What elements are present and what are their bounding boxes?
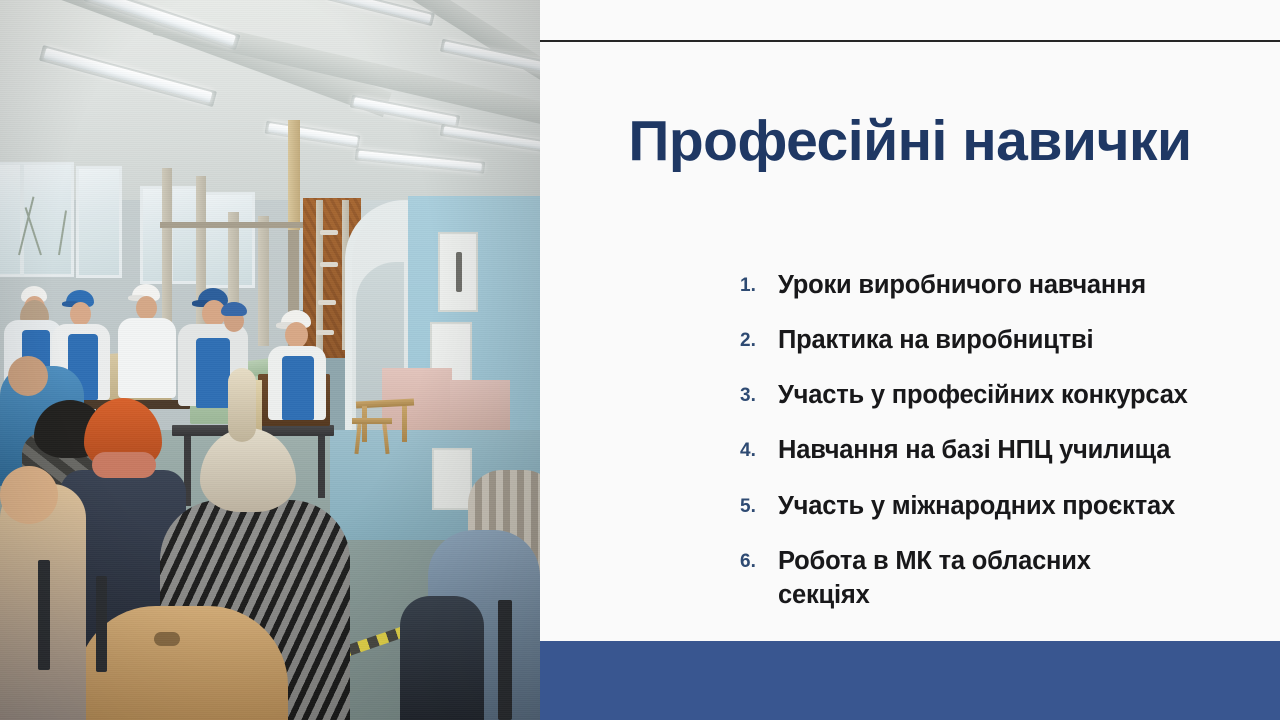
photo-chair-right: [498, 600, 512, 720]
slide-root: Професійні навички 1. Уроки виробничого …: [0, 0, 1280, 720]
list-item[interactable]: 4. Навчання на базі НПЦ училища: [740, 433, 1260, 467]
photo-audience-right-3: [400, 596, 484, 720]
photo-audience-4: [76, 606, 288, 720]
photo-worker-6-head: [285, 322, 308, 348]
photo-chair-mid: [96, 576, 107, 672]
photo-audience-4-hairtie: [154, 632, 180, 646]
photo-worker-2-head: [70, 302, 91, 326]
list-item[interactable]: 5. Участь у міжнародних проєктах: [740, 489, 1260, 523]
photo-rear-board: [432, 448, 472, 510]
photo-stud-4: [258, 216, 269, 346]
list-item-label: Навчання на базі НПЦ училища: [778, 433, 1260, 467]
list-item[interactable]: 3. Участь у професійних конкурсах: [740, 378, 1260, 412]
list-item-number: 2.: [740, 323, 778, 352]
header-divider-rule: [540, 40, 1280, 42]
workshop-photo: [0, 0, 540, 720]
list-item-label: Робота в МК та обласних секціях: [778, 544, 1158, 612]
list-item-label: Участь у міжнародних проєктах: [778, 489, 1260, 523]
photo-audience-3-ponytail: [228, 368, 256, 442]
list-item-label: Участь у професійних конкурсах: [778, 378, 1260, 412]
list-item-number: 4.: [740, 433, 778, 462]
photo-worker-6-apron: [282, 356, 314, 420]
photo-worker-3-head: [136, 296, 157, 320]
photo-niche-insert: [456, 252, 462, 292]
list-item[interactable]: 2. Практика на виробництві: [740, 323, 1260, 357]
photo-window-mullion-1: [20, 164, 24, 276]
photo-window-left-2: [76, 166, 122, 278]
skills-list: 1. Уроки виробничого навчання 2. Практик…: [740, 268, 1260, 633]
photo-table-leg-right: [318, 436, 325, 498]
photo-audience-back-1-head: [8, 356, 48, 396]
photo-worker-4-apron: [196, 338, 230, 408]
photo-osb-clip-4: [316, 330, 334, 335]
page-title: Професійні навички: [540, 112, 1280, 172]
photo-worker-5-cap: [221, 302, 247, 316]
list-item[interactable]: 6. Робота в МК та обласних секціях: [740, 544, 1260, 612]
photo-osb-clip-3: [318, 300, 336, 305]
list-item-label: Уроки виробничого навчання: [778, 268, 1260, 302]
photo-chair-left: [38, 560, 50, 670]
photo-worker-3-body: [118, 318, 176, 398]
list-item-number: 5.: [740, 489, 778, 518]
photo-stud-1: [162, 168, 172, 328]
photo-bench-leg-1: [362, 406, 367, 442]
photo-pink-panel-2: [450, 380, 510, 430]
list-item[interactable]: 1. Уроки виробничого навчання: [740, 268, 1260, 302]
photo-osb-clip-2: [320, 262, 338, 267]
list-item-number: 6.: [740, 544, 778, 573]
photo-audience-5-head: [0, 466, 58, 524]
list-item-label: Практика на виробництві: [778, 323, 1260, 357]
photo-audience-2-scarf: [92, 452, 156, 478]
photo-osb-clip-1: [320, 230, 338, 235]
list-item-number: 3.: [740, 378, 778, 407]
list-item-number: 1.: [740, 268, 778, 297]
photo-wood-post: [288, 120, 300, 230]
content-panel: Професійні навички 1. Уроки виробничого …: [540, 0, 1280, 720]
photo-bench-leg-2: [402, 406, 407, 442]
footer-accent-bar: [540, 641, 1280, 720]
